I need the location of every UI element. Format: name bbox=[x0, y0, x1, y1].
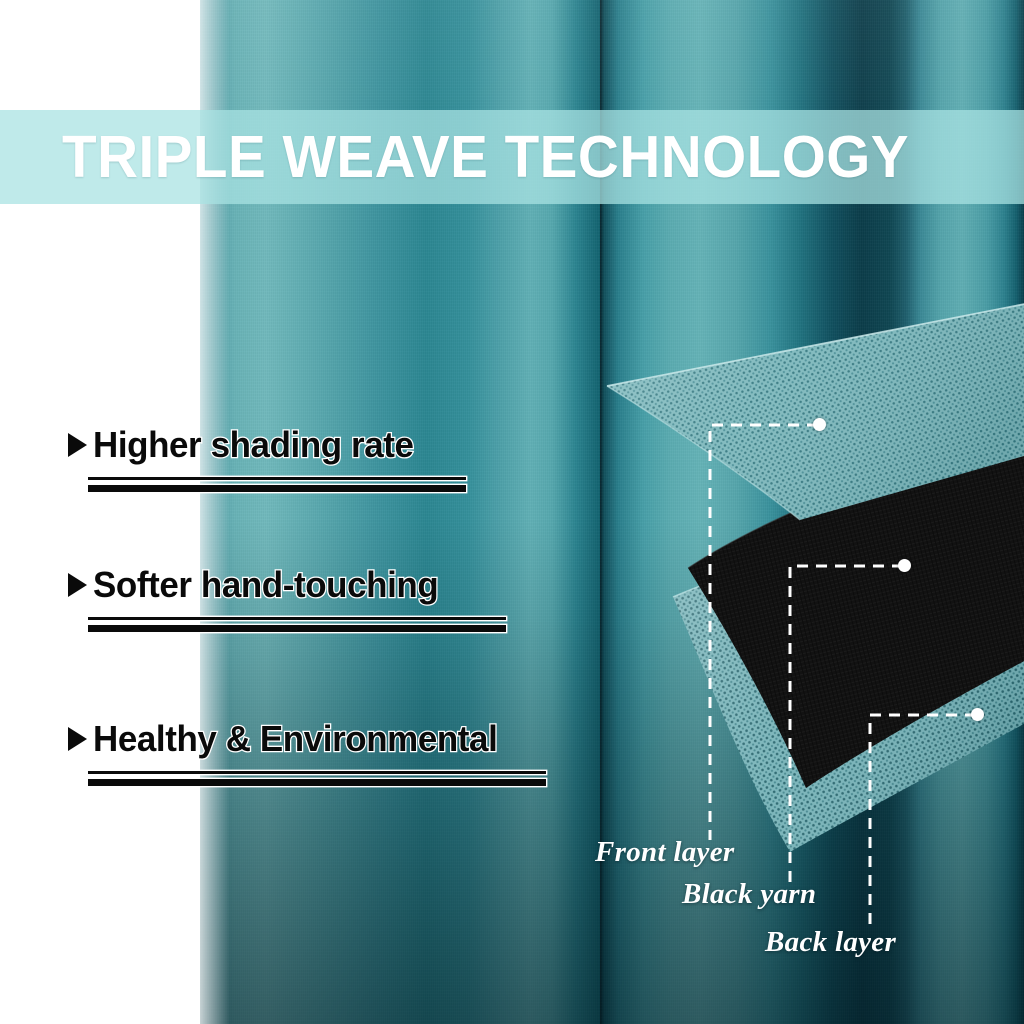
callout-label-black-yarn: Black yarn bbox=[682, 878, 816, 911]
product-infographic: Front layer Black yarn Back layer TRIPLE… bbox=[0, 0, 1024, 1024]
feature-item-softer-hand-touching: Softer hand-touching bbox=[68, 564, 506, 632]
feature-item-higher-shading-rate: Higher shading rate bbox=[68, 424, 466, 492]
feature-label: Softer hand-touching bbox=[93, 564, 438, 606]
feature-underline-thick bbox=[88, 485, 466, 492]
feature-underline-thick bbox=[88, 625, 506, 632]
feature-label: Higher shading rate bbox=[93, 424, 414, 466]
headline-banner: TRIPLE WEAVE TECHNOLOGY bbox=[0, 110, 1024, 204]
callout-label-back-layer: Back layer bbox=[765, 926, 896, 959]
feature-underline bbox=[88, 477, 466, 492]
triangle-right-icon bbox=[68, 727, 87, 751]
callout-dot-back-layer bbox=[971, 708, 984, 721]
callout-dot-black-yarn bbox=[898, 559, 911, 572]
feature-underline bbox=[88, 771, 546, 786]
feature-item-healthy-environmental: Healthy & Environmental bbox=[68, 718, 546, 786]
feature-label: Healthy & Environmental bbox=[93, 718, 497, 760]
triangle-right-icon bbox=[68, 573, 87, 597]
page-title: TRIPLE WEAVE TECHNOLOGY bbox=[62, 128, 909, 187]
feature-underline-thin bbox=[88, 771, 546, 774]
triangle-right-icon bbox=[68, 433, 87, 457]
feature-underline bbox=[88, 617, 506, 632]
feature-underline-thin bbox=[88, 477, 466, 480]
feature-underline-thick bbox=[88, 779, 546, 786]
callout-dot-front-layer bbox=[813, 418, 826, 431]
feature-underline-thin bbox=[88, 617, 506, 620]
callout-label-front-layer: Front layer bbox=[595, 836, 734, 869]
